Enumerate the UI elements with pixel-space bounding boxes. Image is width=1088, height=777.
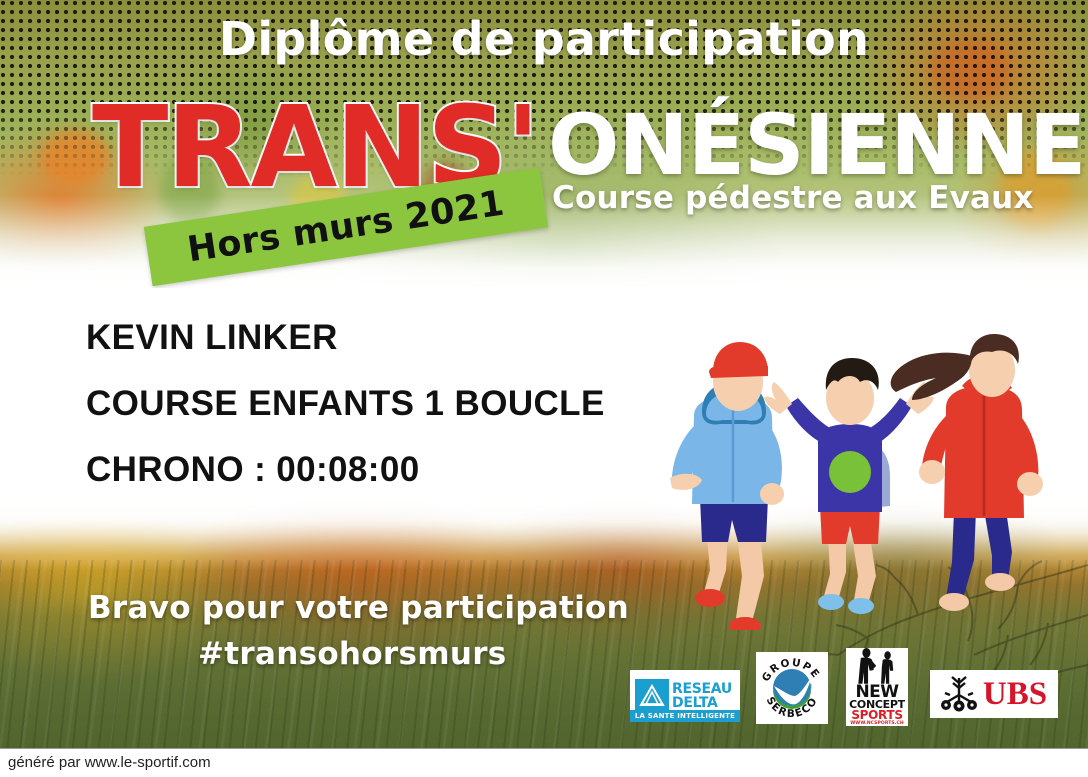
congrats-message: Bravo pour votre participation [88,590,629,626]
sponsor-new-concept-sports[interactable]: NEW CONCEPT SPORTS WWW.NCSPORTS.CH [846,648,908,726]
hashtag-text: #transohorsmurs [198,636,507,672]
adult-male-runner [670,342,784,630]
ubs-keys-icon [941,675,977,713]
runners-illustration [640,330,1088,630]
header-banner: Diplôme de participation TRANS' ONÉSIENN… [0,0,1088,290]
ncs-url: WWW.NCSPORTS.CH [850,722,904,726]
child-runner [764,358,934,614]
sponsor-logos: RESEAU DELTA LA SANTE INTELLIGENTE GROU [630,648,1060,726]
generated-by-text: généré par www.le-sportif.com [8,754,211,771]
new-concept-sports-runners-icon [848,648,906,684]
participant-category: COURSE ENFANTS 1 BOUCLE [86,384,605,424]
page-footer: généré par www.le-sportif.com [0,748,1088,777]
event-name-onesienne: ONÉSIENNE [548,103,1085,187]
sponsor-reseau-delta[interactable]: RESEAU DELTA LA SANTE INTELLIGENTE [630,670,740,722]
page-title: Diplôme de participation [0,12,1088,66]
participant-name: KEVIN LINKER [86,318,605,358]
reseau-delta-icon [635,679,669,713]
reseau-delta-tagline-bar: LA SANTE INTELLIGENTE [630,710,740,722]
groupe-serbeco-icon: GROUPE SERBECO [756,652,828,724]
reseau-delta-line2: DELTA [672,696,732,710]
sponsor-groupe-serbeco[interactable]: GROUPE SERBECO [756,652,828,724]
ubs-wordmark: UBS [983,676,1047,713]
participant-chrono: CHRONO : 00:08:00 [86,450,605,490]
certificate-page: Diplôme de participation TRANS' ONÉSIENN… [0,0,1088,777]
sponsor-ubs[interactable]: UBS [930,670,1058,718]
participant-details: KEVIN LINKER COURSE ENFANTS 1 BOUCLE CHR… [86,318,605,516]
reseau-delta-tagline: LA SANTE INTELLIGENTE [635,712,735,720]
adult-female-runner [891,334,1043,611]
reseau-delta-line1: RESEAU [672,682,732,696]
event-subtitle: Course pédestre aux Evaux [552,180,1034,216]
